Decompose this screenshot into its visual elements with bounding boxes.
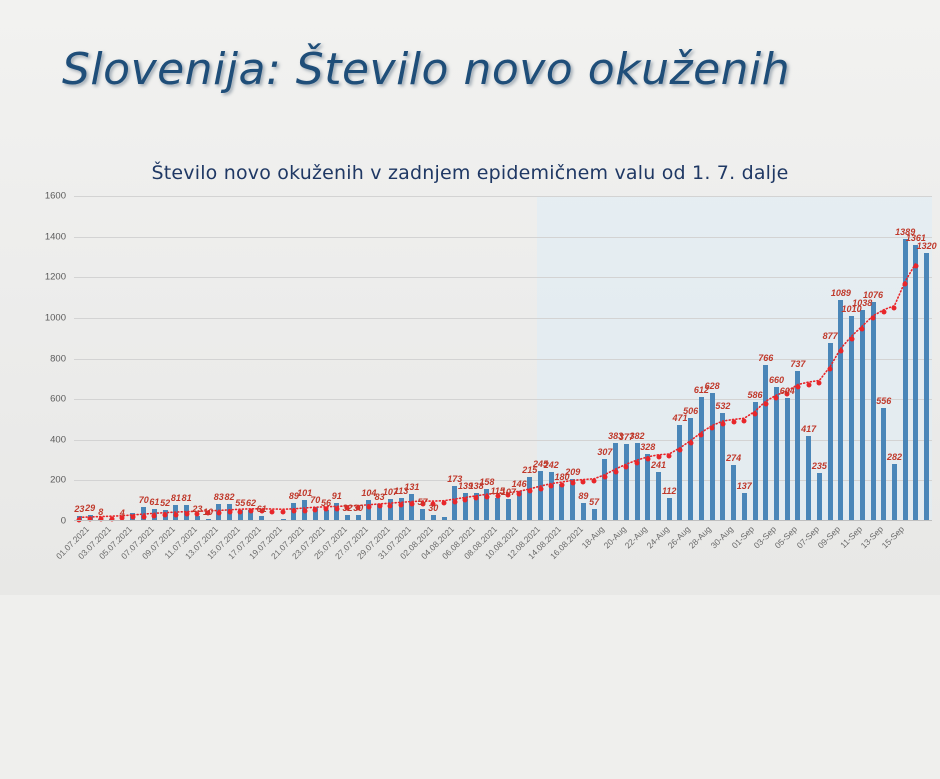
trend-marker <box>570 480 575 485</box>
slide-canvas: Slovenija: Število novo okuženih Število… <box>0 0 940 595</box>
data-label: 660 <box>769 375 784 385</box>
page-title: Slovenija: Število novo okuženih <box>62 44 790 95</box>
data-label: 55 <box>235 498 245 508</box>
trend-marker <box>742 418 747 423</box>
data-label: 556 <box>876 396 891 406</box>
trend-marker <box>688 441 693 446</box>
data-label: 137 <box>737 481 752 491</box>
chart-plot-wrapper: 02004006008001000120014001600 2329847061… <box>0 196 940 536</box>
data-label: 604 <box>780 386 795 396</box>
x-axis-tick: 11-Sep <box>838 524 864 550</box>
trend-marker <box>538 486 543 491</box>
data-label: 382 <box>630 431 645 441</box>
y-axis: 02004006008001000120014001600 <box>0 196 72 521</box>
data-label: 52 <box>160 498 170 508</box>
trend-marker <box>871 316 876 321</box>
data-label: 532 <box>715 401 730 411</box>
data-label: 131 <box>404 482 419 492</box>
data-label: 1089 <box>831 288 851 298</box>
data-label: 1320 <box>917 241 937 251</box>
data-label: 61 <box>149 497 159 507</box>
data-label: 307 <box>597 447 612 457</box>
data-label: 91 <box>332 491 342 501</box>
trend-marker <box>624 464 629 469</box>
data-label: 766 <box>758 353 773 363</box>
data-label: 241 <box>651 460 666 470</box>
data-label: 586 <box>748 390 763 400</box>
x-axis-tick: 24-Aug <box>644 524 670 550</box>
x-axis-tick: 28-Aug <box>687 524 713 550</box>
trend-marker <box>828 367 833 372</box>
trend-marker <box>613 469 618 474</box>
trend-marker <box>388 503 393 508</box>
x-axis-tick: 03-Sep <box>751 524 777 550</box>
trend-marker <box>559 482 564 487</box>
y-axis-tick: 1600 <box>45 191 66 202</box>
data-label: 628 <box>705 381 720 391</box>
data-label: 417 <box>801 424 816 434</box>
trend-marker <box>484 494 489 499</box>
x-axis-tick: 22-Aug <box>623 524 649 550</box>
trend-marker <box>291 509 296 514</box>
trend-marker <box>806 382 811 387</box>
trend-marker <box>913 263 918 268</box>
data-label: 70 <box>139 495 149 505</box>
data-label: 89 <box>578 491 588 501</box>
data-label: 32 <box>342 503 352 513</box>
x-axis-tick: 18-Aug <box>580 524 606 550</box>
data-label: 112 <box>662 486 676 496</box>
data-label: 81 <box>171 493 181 503</box>
x-axis-tick: 15-Sep <box>880 524 906 550</box>
y-axis-tick: 800 <box>50 353 66 364</box>
y-axis-tick: 1000 <box>45 312 66 323</box>
x-axis-line <box>74 520 932 521</box>
data-label: 877 <box>823 331 838 341</box>
y-axis-tick: 0 <box>61 516 66 527</box>
x-axis-tick: 01-Sep <box>730 524 756 550</box>
data-label: 282 <box>887 452 902 462</box>
trend-marker <box>517 491 522 496</box>
data-label: 81 <box>182 493 192 503</box>
data-label: 30 <box>353 503 363 513</box>
trend-marker <box>238 509 243 514</box>
x-axis-tick: 13-Sep <box>859 524 885 550</box>
trend-marker <box>667 454 672 459</box>
trend-marker <box>635 460 640 465</box>
data-label: 23 <box>74 504 84 514</box>
trend-marker <box>313 507 318 512</box>
chart-title: Število novo okuženih v zadnjem epidemič… <box>0 162 940 184</box>
x-axis-tick: 30-Aug <box>708 524 734 550</box>
trend-marker <box>581 480 586 485</box>
trend-marker <box>731 419 736 424</box>
y-axis-tick: 200 <box>50 475 66 486</box>
data-label: 83 <box>214 492 224 502</box>
data-label: 30 <box>428 503 438 513</box>
trend-marker <box>795 385 800 390</box>
data-label: 328 <box>640 442 655 452</box>
data-label: 82 <box>224 492 234 502</box>
y-axis-tick: 1200 <box>45 272 66 283</box>
data-label: 506 <box>683 406 698 416</box>
trend-marker <box>377 504 382 509</box>
data-label: 146 <box>512 479 527 489</box>
trend-marker <box>281 509 286 514</box>
y-axis-tick: 1400 <box>45 231 66 242</box>
trend-marker <box>838 348 843 353</box>
trend-marker <box>753 411 758 416</box>
trend-marker <box>173 512 178 517</box>
trend-marker <box>892 306 897 311</box>
y-axis-tick: 600 <box>50 394 66 405</box>
trend-marker <box>817 380 822 385</box>
trend-marker <box>881 310 886 315</box>
trend-marker <box>141 514 146 519</box>
trend-marker <box>656 455 661 460</box>
trend-marker <box>366 505 371 510</box>
trend-marker <box>334 506 339 511</box>
x-axis-tick: 09-Sep <box>816 524 842 550</box>
data-label: 235 <box>812 461 827 471</box>
data-label: 274 <box>726 453 741 463</box>
trend-marker <box>442 501 447 506</box>
data-label: 56 <box>321 498 331 508</box>
trend-marker <box>399 502 404 507</box>
trend-marker <box>184 512 189 517</box>
data-label: 57 <box>589 497 599 507</box>
trend-marker <box>677 448 682 453</box>
data-label: 70 <box>310 495 320 505</box>
trend-marker <box>452 499 457 504</box>
trend-marker <box>710 426 715 431</box>
y-axis-tick: 400 <box>50 434 66 445</box>
trend-marker <box>409 502 414 507</box>
trend-marker <box>216 510 221 515</box>
data-label: 737 <box>790 359 805 369</box>
data-label: 10 <box>203 507 213 517</box>
data-label: 57 <box>418 497 428 507</box>
trend-marker <box>645 457 650 462</box>
trend-marker <box>849 336 854 341</box>
data-label: 61 <box>257 504 267 514</box>
trend-marker <box>720 421 725 426</box>
trend-marker <box>163 513 168 518</box>
data-label: 29 <box>85 503 95 513</box>
data-label: 23 <box>192 504 202 514</box>
data-label: 4 <box>120 508 125 518</box>
trend-marker <box>474 496 479 501</box>
x-axis-tick: 20-Aug <box>601 524 627 550</box>
data-label: 1076 <box>863 290 883 300</box>
trend-marker <box>270 509 275 514</box>
x-axis-labels: 01.07.202103.07.202105.07.202107.07.2021… <box>74 524 932 779</box>
trend-marker <box>227 510 232 515</box>
trend-marker <box>903 281 908 286</box>
trend-marker <box>463 497 468 502</box>
data-label: 242 <box>544 460 559 470</box>
trend-marker <box>763 401 768 406</box>
x-axis-tick: 07-Sep <box>794 524 820 550</box>
trend-marker <box>602 475 607 480</box>
trend-marker <box>774 395 779 400</box>
trend-marker <box>699 432 704 437</box>
trend-marker <box>860 326 865 331</box>
plot-area: 2329847061528181231083825562618910170569… <box>74 196 932 521</box>
trend-marker <box>152 513 157 518</box>
data-label: 209 <box>565 467 580 477</box>
trend-marker <box>527 489 532 494</box>
data-label: 62 <box>246 498 256 508</box>
data-label: 8 <box>98 507 103 517</box>
trend-marker <box>248 509 253 514</box>
x-axis-tick: 05-Sep <box>773 524 799 550</box>
trend-marker <box>302 508 307 513</box>
trend-marker <box>549 484 554 489</box>
trend-marker <box>592 479 597 484</box>
x-axis-tick: 26-Aug <box>666 524 692 550</box>
